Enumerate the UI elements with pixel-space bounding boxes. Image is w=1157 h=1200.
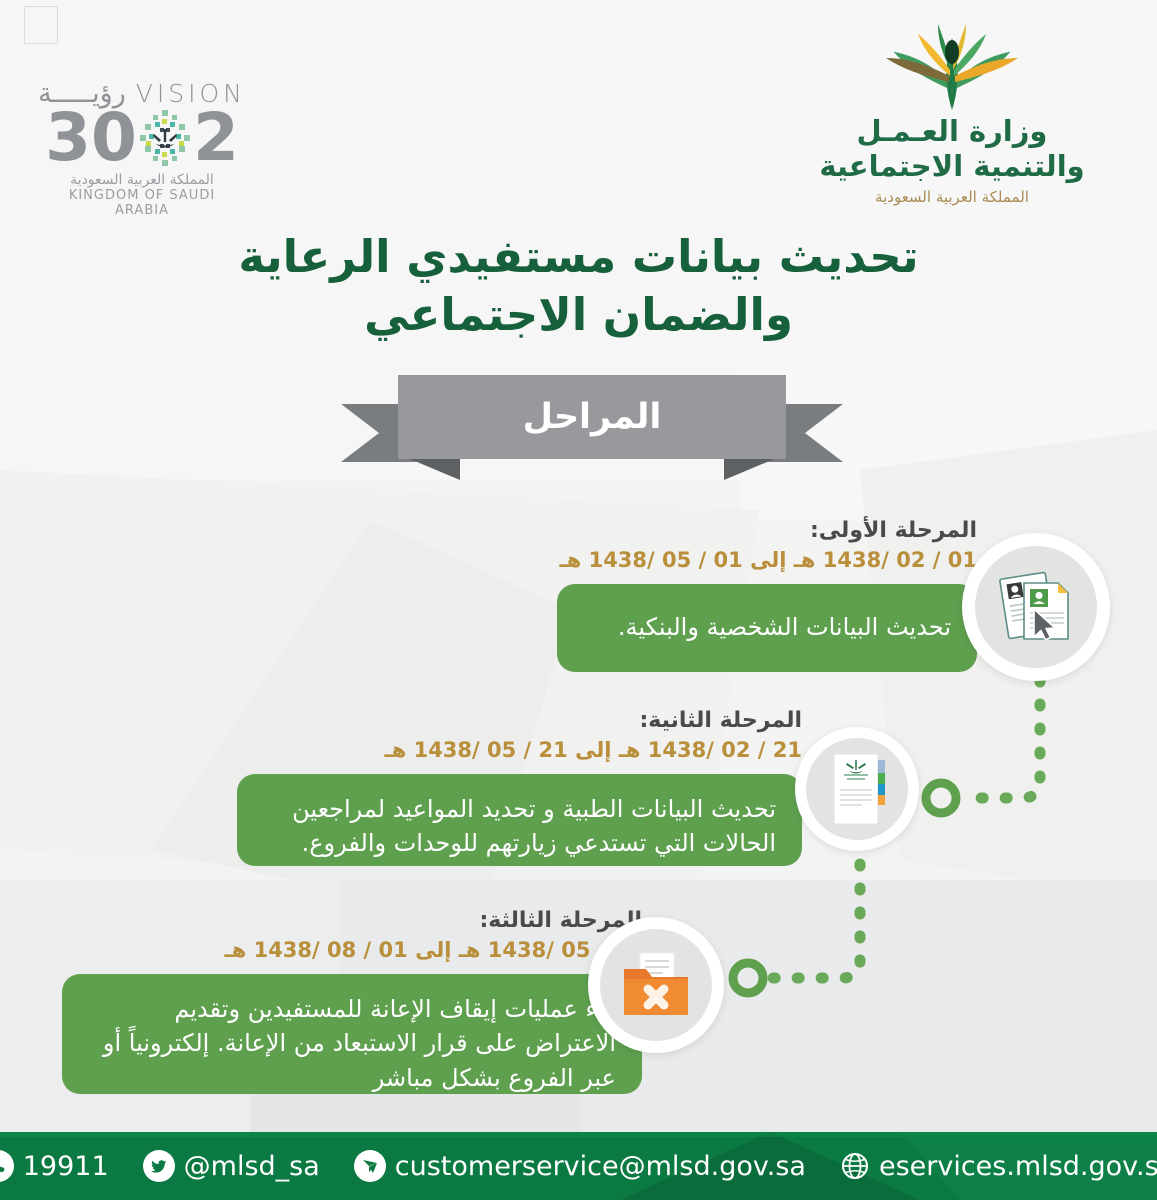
stage-2-body: تحديث البيانات الطبية و تحديد المواعيد ل… [292, 795, 776, 858]
stage-3-icon-disc [588, 917, 724, 1053]
stage-3-body: بدء عمليات إيقاف الإعانة للمستفيدين وتقد… [103, 995, 616, 1093]
stage-3-heading: المرحلة الثالثة: [62, 908, 642, 934]
stage-2: المرحلة الثانية: 21 / 02 /1438 هـ إلى 21… [237, 708, 802, 866]
stage-2-bubble: تحديث البيانات الطبية و تحديد المواعيد ل… [237, 774, 802, 866]
stage-3-bubble: بدء عمليات إيقاف الإعانة للمستفيدين وتقد… [62, 974, 642, 1094]
corner-registration-mark [24, 6, 58, 44]
rejected-folder-icon [600, 929, 712, 1041]
footer-contact-row: 19911 @mlsd_sa custome [0, 1132, 1157, 1200]
page-title: تحديث بيانات مستفيدي الرعاية والضمان الا… [0, 228, 1157, 343]
stage-1-heading: المرحلة الأولى: [557, 518, 977, 544]
stage-2-date: 21 / 02 /1438 هـ إلى 21 / 05 /1438 هـ [237, 738, 802, 763]
footer-email[interactable]: customerservice@mlsd.gov.sa [354, 1150, 806, 1182]
twitter-icon [143, 1150, 175, 1182]
vision-year-left: 2 [193, 107, 239, 170]
footer-website[interactable]: eservices.mlsd.gov.sa [840, 1151, 1157, 1182]
palm-tree-icon [807, 18, 1097, 114]
vision-year-right: 30 [45, 107, 137, 170]
footer-phone-text: 19911 [23, 1151, 109, 1182]
ministry-name-line2: والتنمية الاجتماعية [807, 149, 1097, 184]
infographic-canvas: VISION رؤيـــــة 2 [0, 0, 1157, 1200]
stage-2-heading: المرحلة الثانية: [237, 708, 802, 734]
footer-website-text: eservices.mlsd.gov.sa [879, 1151, 1157, 1182]
footer-twitter-text: @mlsd_sa [184, 1151, 320, 1182]
footer-email-text: customerservice@mlsd.gov.sa [395, 1151, 806, 1182]
stage-3: المرحلة الثالثة: 21 / 05 /1438 هـ إلى 01… [62, 908, 642, 1094]
vision-2030-logo: VISION رؤيـــــة 2 [42, 78, 242, 218]
footer-twitter[interactable]: @mlsd_sa [143, 1150, 320, 1182]
stage-1-bubble: تحديث البيانات الشخصية والبنكية. [557, 584, 977, 672]
saudi-vision-emblem-icon [135, 108, 195, 168]
stage-1: المرحلة الأولى: 01 / 02 /1438 هـ إلى 01 … [557, 518, 977, 672]
vision-year: 2 [42, 107, 242, 170]
globe-icon [840, 1151, 870, 1181]
email-icon [354, 1150, 386, 1182]
contact-footer: 19911 @mlsd_sa custome [0, 1132, 1157, 1200]
ministry-logo: وزارة العـمـل والتنمية الاجتماعية المملك… [807, 18, 1097, 206]
stage-1-date: 01 / 02 /1438 هـ إلى 01 / 05 /1438 هـ [557, 548, 977, 573]
vision-subtitle-ar: المملكة العربية السعودية [42, 172, 242, 188]
stage-3-date: 21 / 05 /1438 هـ إلى 01 / 08 /1438 هـ [62, 938, 642, 963]
ribbon-body: المراحل [398, 375, 786, 459]
vision-subtitle-en: KINGDOM OF SAUDI ARABIA [42, 188, 242, 218]
documents-with-cursor-icon [975, 546, 1097, 668]
ministry-country-line: المملكة العربية السعودية [807, 188, 1097, 206]
stage-1-body: تحديث البيانات الشخصية والبنكية. [618, 610, 951, 645]
section-ribbon: المراحل [341, 371, 843, 481]
ministry-name-line1: وزارة العـمـل [807, 114, 1097, 149]
stage-2-icon-disc [795, 727, 919, 851]
phone-icon [0, 1150, 14, 1182]
official-document-icon [806, 738, 908, 840]
footer-phone[interactable]: 19911 [0, 1150, 109, 1182]
stage-1-icon-disc [962, 533, 1110, 681]
ribbon-label: المراحل [523, 397, 662, 437]
